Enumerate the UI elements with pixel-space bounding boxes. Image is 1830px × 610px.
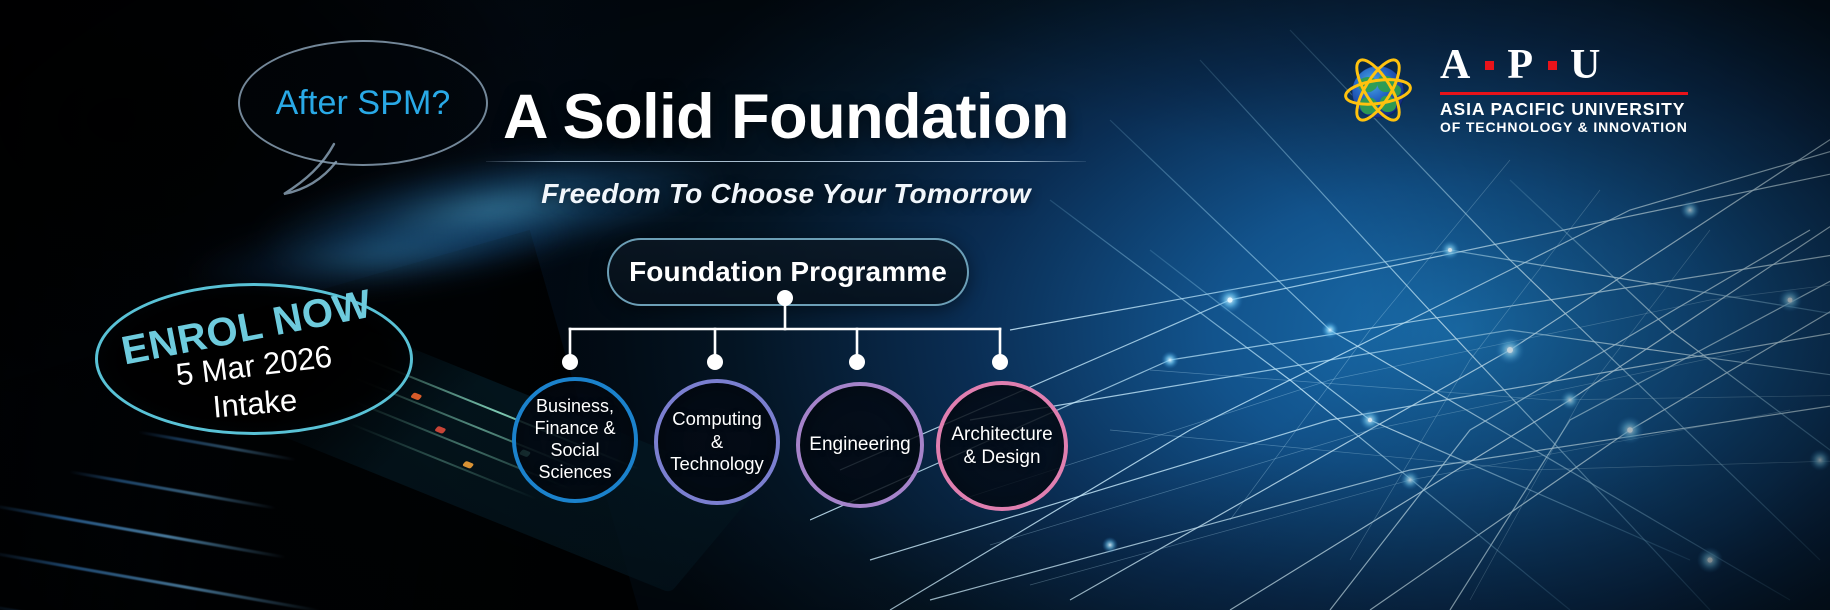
- apu-initials: A P U: [1440, 44, 1688, 86]
- tagline: Freedom To Choose Your Tomorrow: [486, 178, 1086, 210]
- enrol-now-badge[interactable]: ENROL NOW 5 Mar 2026 Intake: [95, 283, 413, 435]
- headline-divider: [486, 161, 1086, 162]
- apu-initial-p: P: [1507, 44, 1535, 86]
- discipline-circle-architecture[interactable]: Architecture & Design: [936, 381, 1068, 511]
- discipline-circle-computing[interactable]: Computing & Technology: [654, 379, 780, 505]
- apu-foundation-banner: After SPM? A Solid Foundation Freedom To…: [0, 0, 1830, 610]
- apu-separator-dot-2: [1548, 61, 1557, 70]
- page-title: A Solid Foundation: [486, 85, 1086, 149]
- apu-wordmark: A P U ASIA PACIFIC UNIVERSITY OF TECHNOL…: [1440, 44, 1688, 136]
- foundation-programme-label: Foundation Programme: [629, 256, 947, 288]
- discipline-label-engineering: Engineering: [799, 433, 920, 456]
- discipline-label-architecture: Architecture & Design: [940, 423, 1064, 469]
- after-spm-speech-bubble: After SPM?: [238, 40, 488, 166]
- discipline-label-business: Business, Finance & Social Sciences: [516, 396, 634, 484]
- apu-name-line1: ASIA PACIFIC UNIVERSITY: [1440, 99, 1688, 119]
- globe-atom-icon: [1330, 42, 1426, 138]
- discipline-circle-business[interactable]: Business, Finance & Social Sciences: [512, 377, 638, 503]
- after-spm-label: After SPM?: [276, 84, 451, 123]
- apu-name-line2: OF TECHNOLOGY & INNOVATION: [1440, 119, 1688, 136]
- speech-bubble-tail-icon: [278, 140, 348, 200]
- discipline-label-computing: Computing & Technology: [658, 408, 776, 476]
- apu-red-rule: [1440, 92, 1688, 95]
- headline-block: A Solid Foundation Freedom To Choose You…: [486, 85, 1086, 210]
- apu-logo: A P U ASIA PACIFIC UNIVERSITY OF TECHNOL…: [1330, 40, 1750, 140]
- discipline-circle-engineering[interactable]: Engineering: [796, 382, 924, 508]
- apu-initial-a: A: [1440, 44, 1472, 86]
- apu-separator-dot-1: [1485, 61, 1494, 70]
- apu-initial-u: U: [1570, 44, 1602, 86]
- programme-tree-connector: [530, 285, 1050, 395]
